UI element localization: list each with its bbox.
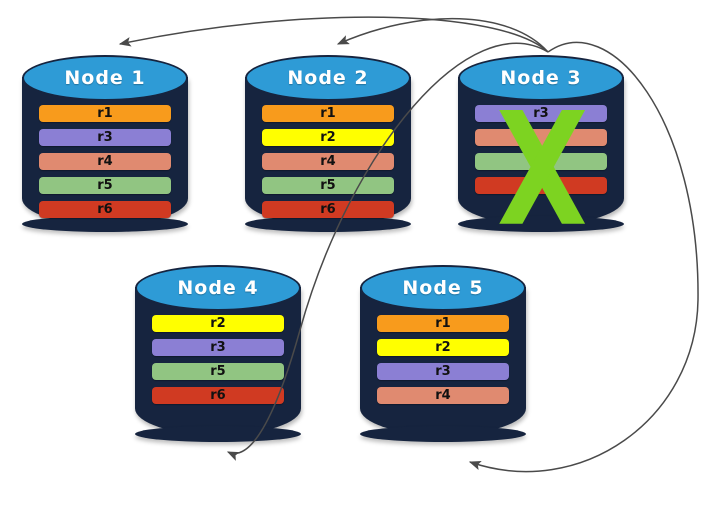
record-bar: r6	[262, 201, 395, 218]
record-bar: r4	[39, 153, 172, 170]
record-bar: r5	[152, 363, 285, 380]
node-2-record-list: r1r2r4r5r6	[245, 105, 411, 225]
node-1[interactable]: Node 1r1r3r4r5r6	[22, 55, 188, 225]
record-bar: r3	[39, 129, 172, 146]
record-bar: r4	[377, 387, 510, 404]
record-bar: r3	[152, 339, 285, 356]
arrow-node3-to-node1	[120, 17, 548, 52]
record-bar: r6	[39, 201, 172, 218]
record-bar: r1	[262, 105, 395, 122]
node-1-label: Node 1	[22, 55, 188, 101]
record-bar: r1	[377, 315, 510, 332]
record-bar: r5	[39, 177, 172, 194]
record-bar: r3	[475, 105, 608, 122]
node-3[interactable]: Node 3r3	[458, 55, 624, 225]
record-bar: r1	[39, 105, 172, 122]
diagram-canvas: Node 1r1r3r4r5r6Node 2r1r2r4r5r6Node 3r3…	[0, 0, 708, 508]
record-bar: r6	[152, 387, 285, 404]
node-3-record-list: r3	[458, 105, 624, 201]
node-5[interactable]: Node 5r1r2r3r4	[360, 265, 526, 435]
node-4[interactable]: Node 4r2r3r5r6	[135, 265, 301, 435]
node-4-record-list: r2r3r5r6	[135, 315, 301, 411]
node-1-record-list: r1r3r4r5r6	[22, 105, 188, 225]
record-bar	[475, 129, 608, 146]
record-bar: r2	[262, 129, 395, 146]
arrow-node3-to-node2	[338, 19, 548, 52]
node-2-label: Node 2	[245, 55, 411, 101]
record-bar: r2	[152, 315, 285, 332]
record-bar: r5	[262, 177, 395, 194]
node-5-label: Node 5	[360, 265, 526, 311]
record-bar: r4	[262, 153, 395, 170]
node-4-label: Node 4	[135, 265, 301, 311]
node-2[interactable]: Node 2r1r2r4r5r6	[245, 55, 411, 225]
record-bar	[475, 177, 608, 194]
node-3-label: Node 3	[458, 55, 624, 101]
record-bar: r3	[377, 363, 510, 380]
record-bar	[475, 153, 608, 170]
node-5-record-list: r1r2r3r4	[360, 315, 526, 411]
record-bar: r2	[377, 339, 510, 356]
